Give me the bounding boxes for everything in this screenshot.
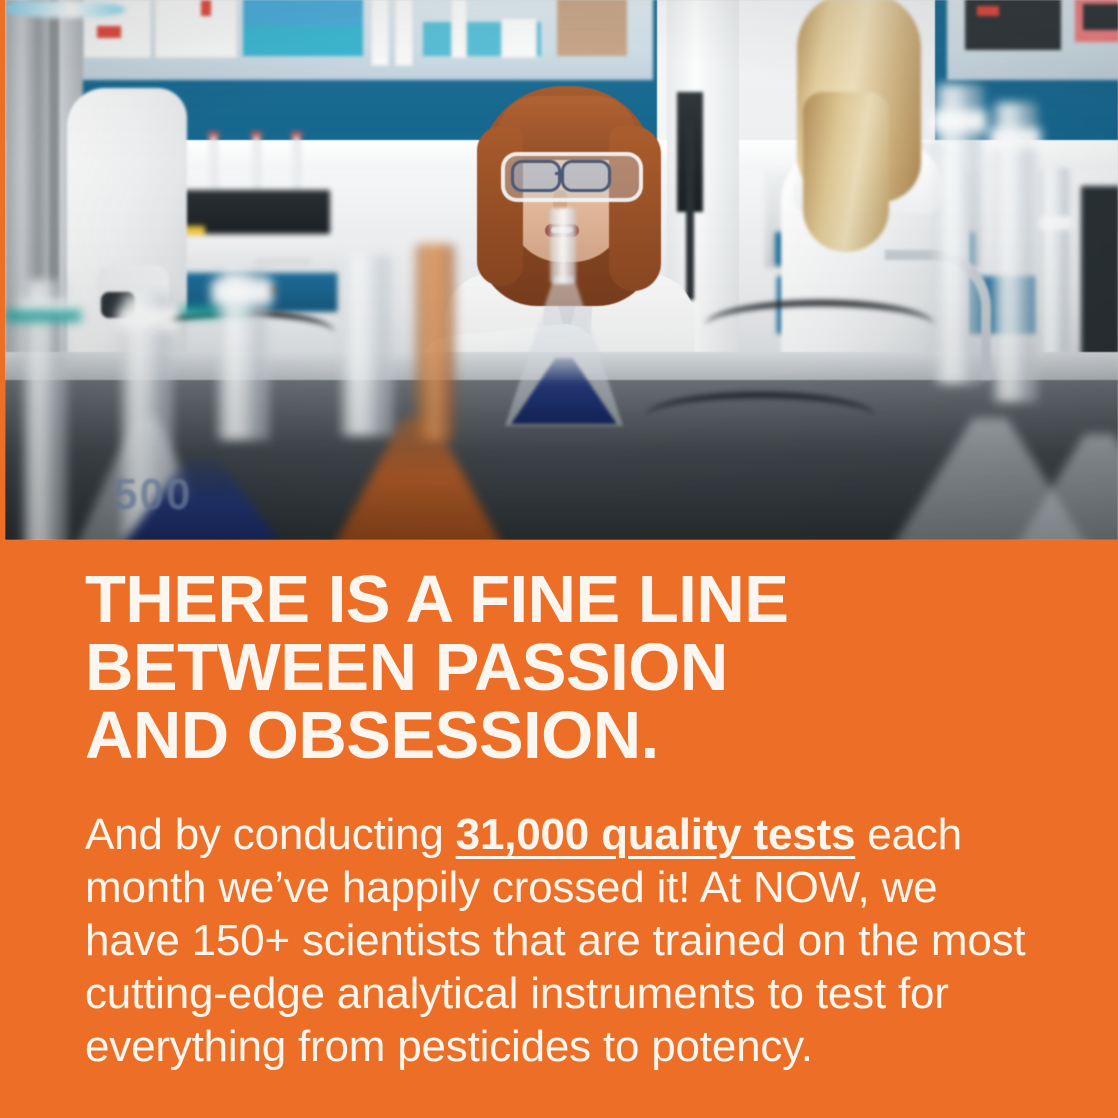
orange-text-panel: THERE IS A FINE LINE BETWEEN PASSION AND… [0,540,1118,1118]
center-hair-right [609,126,661,291]
page-title: THERE IS A FINE LINE BETWEEN PASSION AND… [85,566,1045,770]
body-paragraph: And by conducting 31,000 quality tests e… [85,808,1037,1073]
eyeglass-lens-left [511,160,561,192]
ad-card: 500 THERE IS A FINE LINE BETWEEN PASSION… [0,0,1118,1118]
photo-left-orange-edge [0,0,5,540]
bench-cable-front [645,392,875,442]
flask-volume-label: 500 [113,470,192,520]
quality-tests-highlight: 31,000 quality tests [456,810,856,859]
lab-photo-scene: 500 [5,0,1118,540]
blonde-hair-strands [803,92,889,252]
center-hair-left [477,126,523,286]
body-text-before: And by conducting [85,810,456,859]
lab-photo: 500 [0,0,1118,540]
eyeglass-lens-right [561,160,611,192]
eyeglass-bridge [555,172,563,175]
